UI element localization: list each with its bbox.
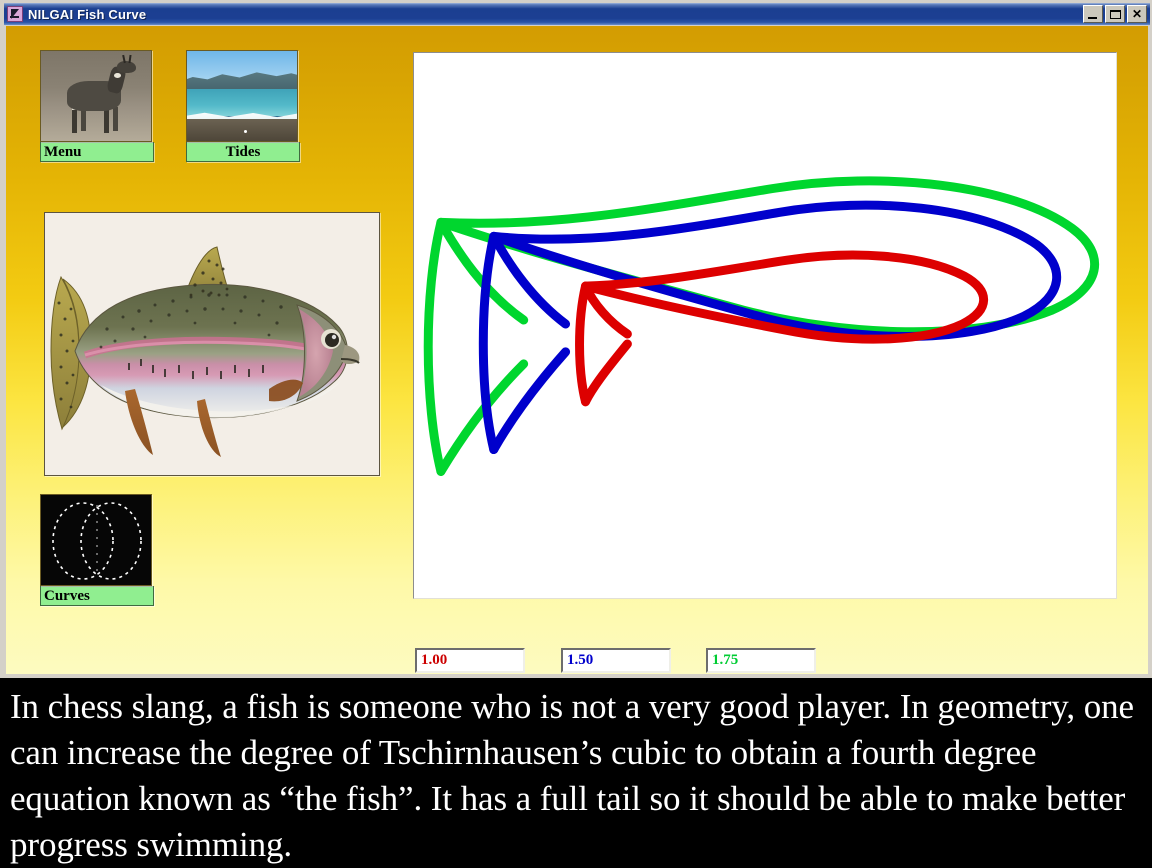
- fish-curve-canvas: [414, 53, 1116, 598]
- window-title: NILGAI Fish Curve: [28, 7, 146, 22]
- sidebar-item-menu-label[interactable]: Menu: [40, 142, 154, 162]
- title-bar: NILGAI Fish Curve ✕: [4, 3, 1150, 25]
- minimize-button[interactable]: [1083, 5, 1103, 23]
- parameter-input-red[interactable]: [415, 648, 525, 673]
- maximize-icon: [1110, 10, 1121, 19]
- sidebar-item-menu[interactable]: Menu: [40, 50, 154, 162]
- parameter-input-green[interactable]: [706, 648, 816, 673]
- curves-preview-diagram: [41, 495, 152, 586]
- caption-text: In chess slang, a fish is someone who is…: [0, 678, 1152, 864]
- window-controls: ✕: [1083, 5, 1147, 23]
- beach-coastline-thumbnail[interactable]: [186, 50, 298, 142]
- sidebar-item-curves[interactable]: Curves: [40, 494, 154, 606]
- rainbow-trout-picture: [44, 212, 380, 476]
- application-window: NILGAI Fish Curve ✕: [0, 0, 1152, 678]
- nilgai-antelope-thumbnail[interactable]: [40, 50, 152, 142]
- fish-curve-plot[interactable]: [413, 52, 1117, 599]
- close-button[interactable]: ✕: [1127, 5, 1147, 23]
- app-icon: [7, 6, 23, 22]
- parameter-input-blue[interactable]: [561, 648, 671, 673]
- sidebar-item-tides-label[interactable]: Tides: [186, 142, 300, 162]
- maximize-button[interactable]: [1105, 5, 1125, 23]
- sidebar-item-tides[interactable]: Tides: [186, 50, 300, 162]
- client-area: Menu Tides: [6, 26, 1148, 674]
- sidebar-item-curves-label[interactable]: Curves: [40, 586, 154, 606]
- dotted-ellipses-thumbnail[interactable]: [40, 494, 152, 586]
- rainbow-trout-illustration: [45, 213, 380, 476]
- minimize-icon: [1088, 17, 1097, 19]
- close-icon: ✕: [1132, 8, 1142, 20]
